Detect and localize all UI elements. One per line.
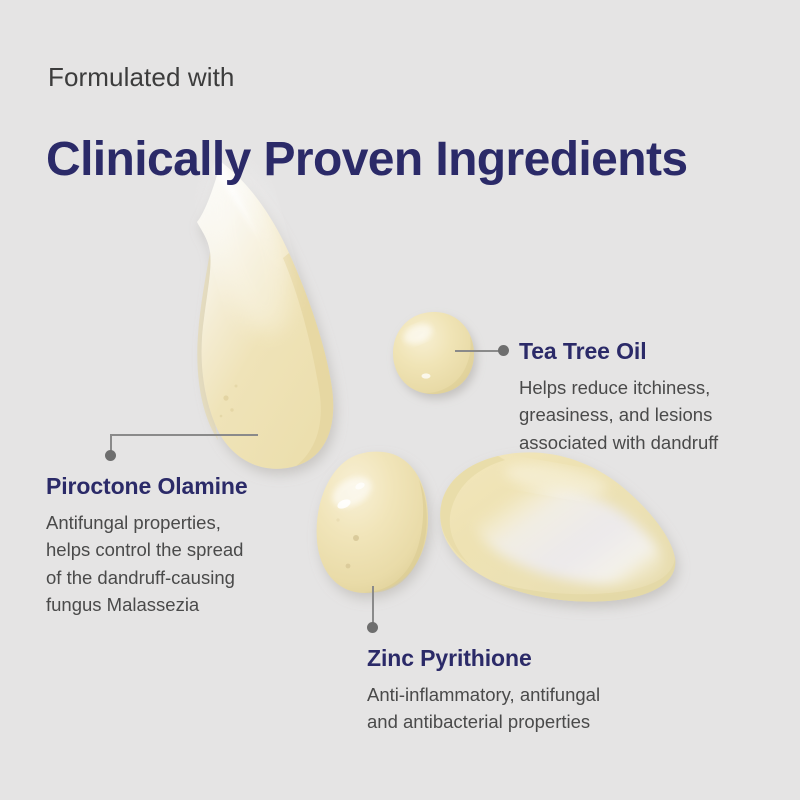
callout-body-zinc-pyrithione: Anti-inflammatory, antifungal and antiba… xyxy=(367,681,600,736)
eyebrow-text: Formulated with xyxy=(48,62,234,93)
cream-swirl-crescent-group xyxy=(440,452,675,601)
callout-body-piroctone-olamine: Antifungal properties, helps control the… xyxy=(46,509,248,619)
connector-dot-tea-tree xyxy=(498,345,509,356)
callout-piroctone-olamine: Piroctone Olamine Antifungal properties,… xyxy=(46,473,248,619)
callout-body-tea-tree-oil: Helps reduce itchiness, greasiness, and … xyxy=(519,374,718,456)
cream-blob-round-group xyxy=(317,452,428,593)
page-title: Clinically Proven Ingredients xyxy=(46,132,687,187)
ingredients-infographic: Formulated with Clinically Proven Ingred… xyxy=(0,0,800,800)
callout-title-zinc-pyrithione: Zinc Pyrithione xyxy=(367,645,600,672)
callout-title-piroctone-olamine: Piroctone Olamine xyxy=(46,473,248,500)
callout-zinc-pyrithione: Zinc Pyrithione Anti-inflammatory, antif… xyxy=(367,645,600,736)
connector-line-tea-tree xyxy=(455,350,501,352)
connector-dot-zinc xyxy=(367,622,378,633)
cream-swoosh-large-group xyxy=(194,158,334,469)
connector-dot-piroctone xyxy=(105,450,116,461)
cream-droplet-small-group xyxy=(393,312,474,394)
callout-title-tea-tree-oil: Tea Tree Oil xyxy=(519,338,718,365)
connector-line-piroctone-horizontal xyxy=(110,434,258,436)
callout-tea-tree-oil: Tea Tree Oil Helps reduce itchiness, gre… xyxy=(519,338,718,456)
